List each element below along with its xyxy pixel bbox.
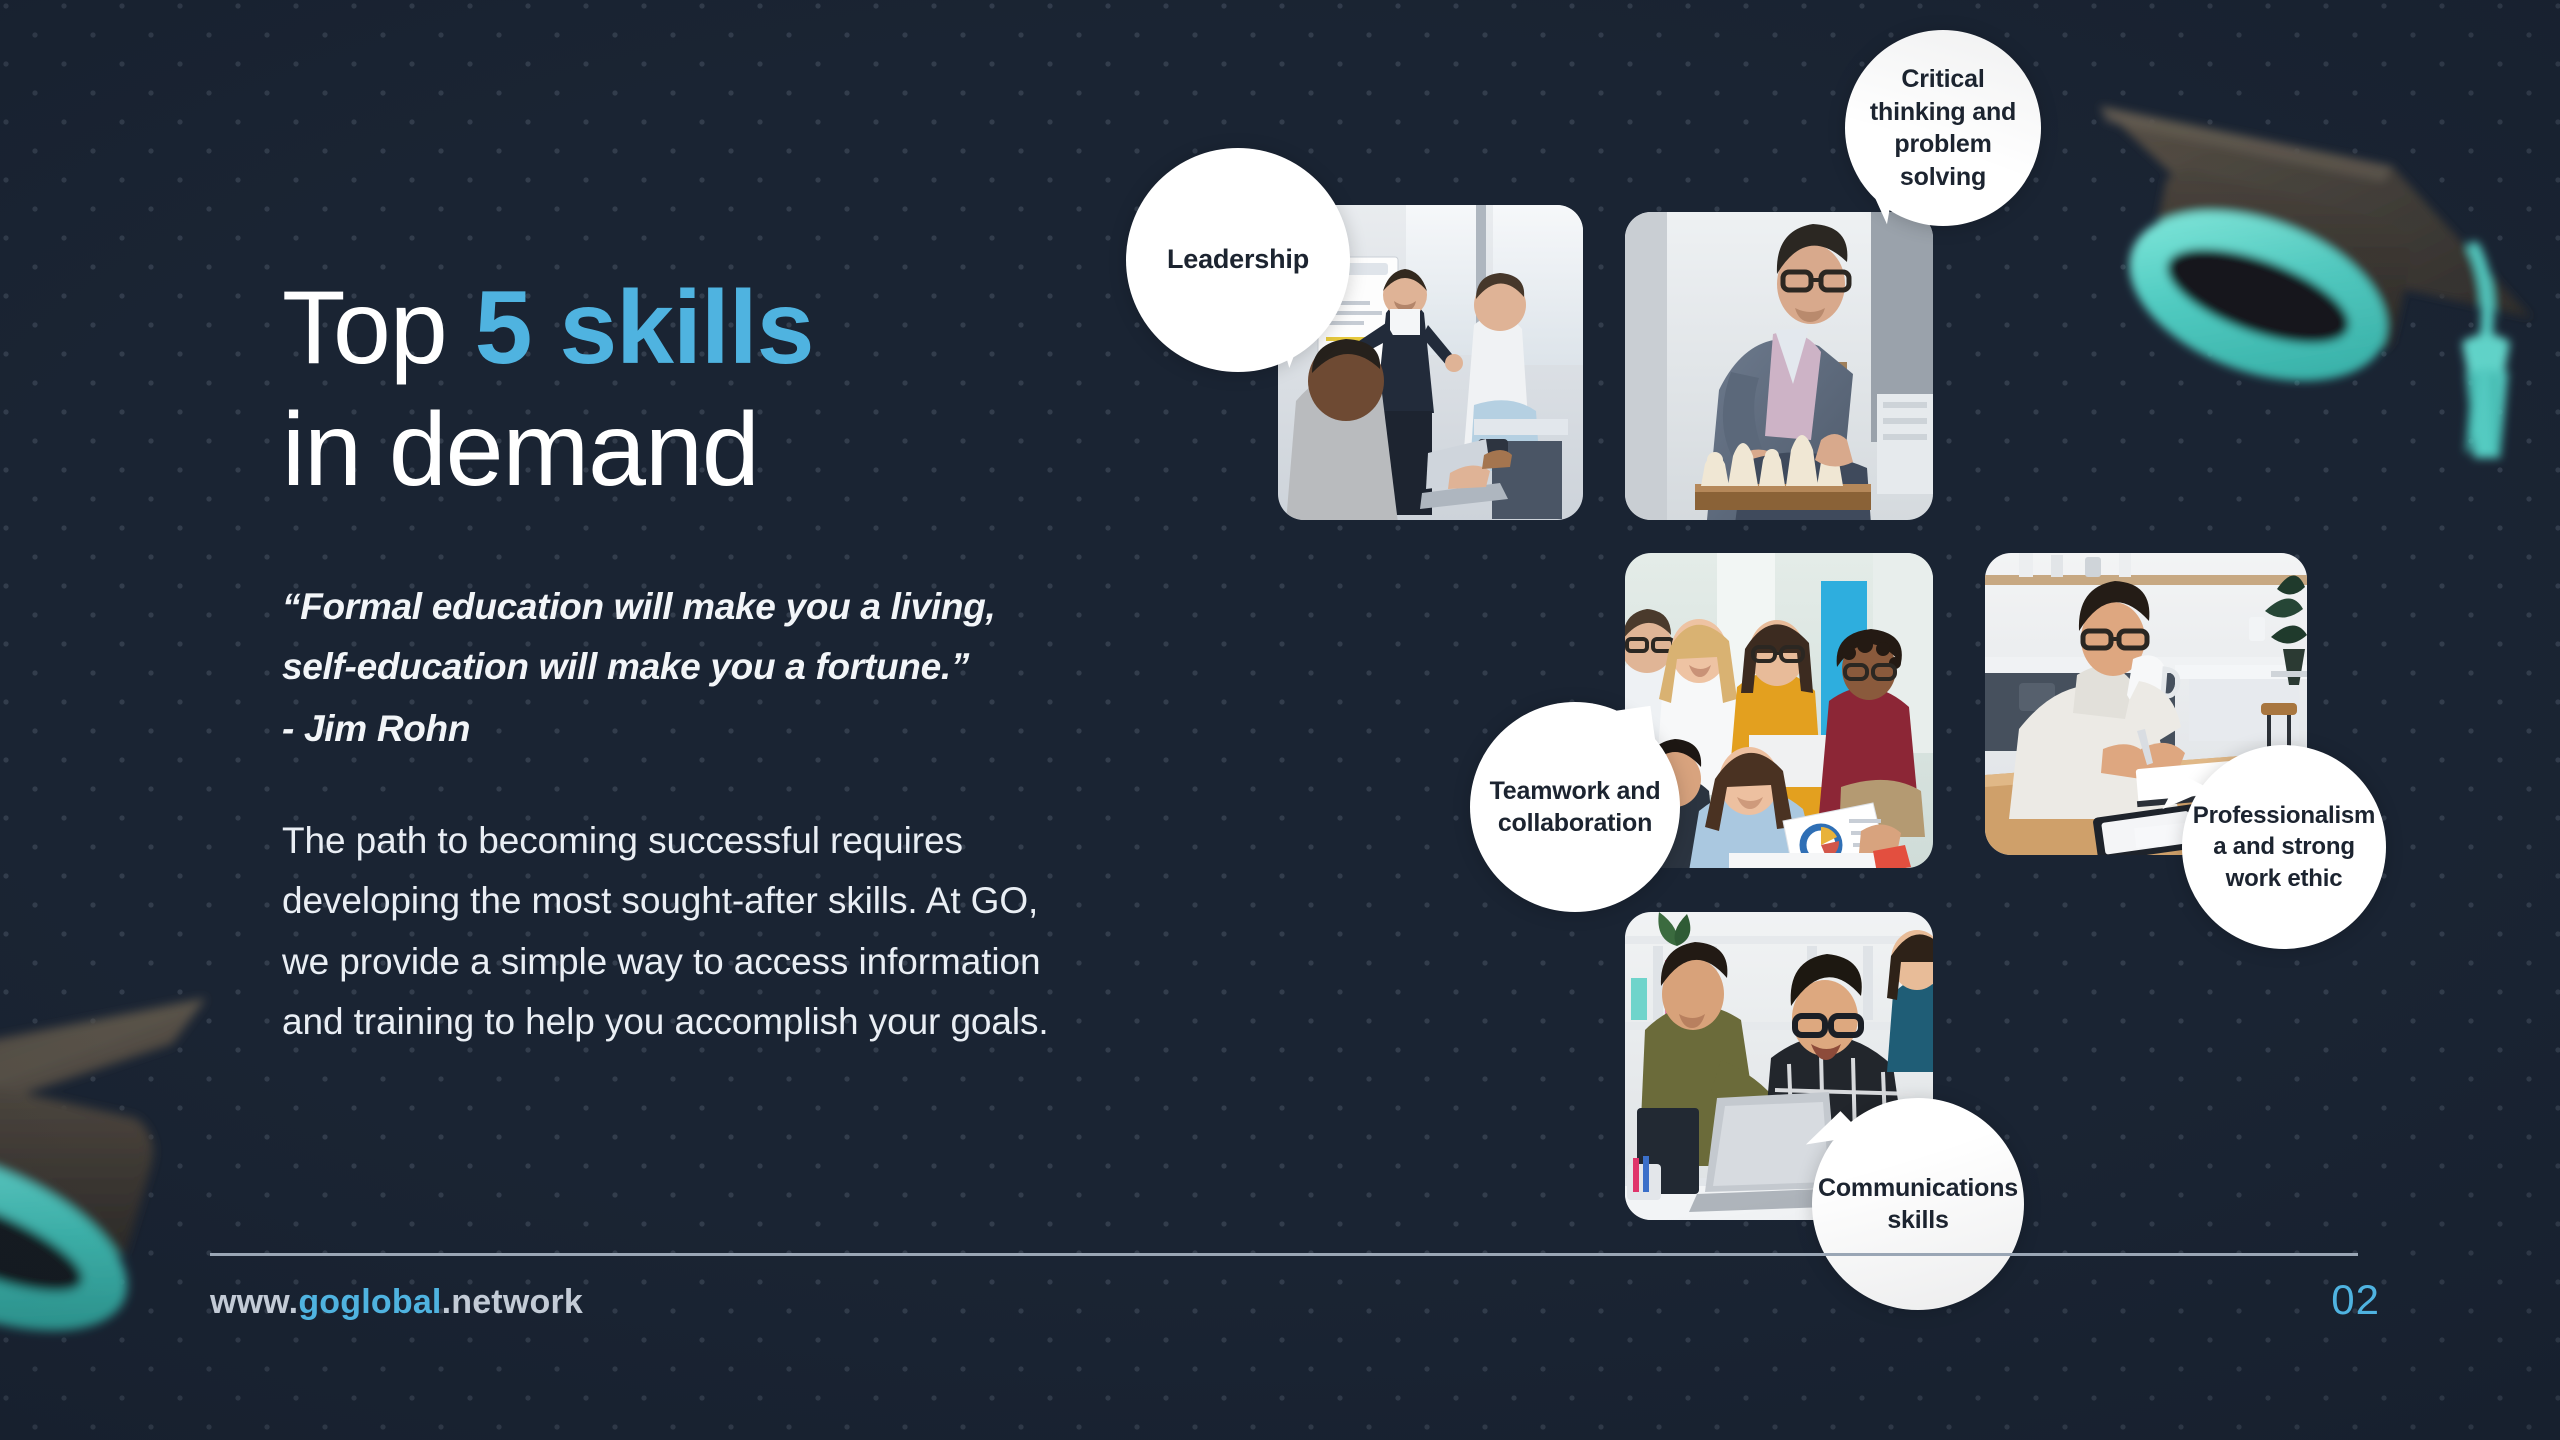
footer-url-prefix: www. <box>210 1283 298 1321</box>
quote-line-1: “Formal education will make you a living… <box>282 577 1102 637</box>
footer-website-url[interactable]: www.goglobal.network <box>210 1283 583 1322</box>
skill-bubble-teamwork-label: Teamwork and collaboration <box>1474 775 1677 840</box>
bubble-tail-teamwork <box>1617 706 1658 760</box>
page-number: 02 <box>2331 1276 2380 1324</box>
quote-line-2: self-education will make you a fortune.” <box>282 637 1102 697</box>
skill-bubble-communications[interactable]: Communications skills <box>1812 1098 2024 1310</box>
slide-canvas: Leadership Critical thinking and problem… <box>0 0 2560 1440</box>
skill-bubble-teamwork[interactable]: Teamwork and collaboration <box>1470 702 1680 912</box>
footer-url-suffix: .network <box>442 1283 583 1321</box>
graduation-cap-icon-top-right <box>2062 70 2560 490</box>
body-paragraph: The path to becoming successful requires… <box>282 811 1082 1052</box>
skill-bubble-leadership-label: Leadership <box>1151 242 1325 277</box>
page-title-accent: 5 skills <box>475 270 814 386</box>
footer-url-brand: goglobal <box>298 1283 441 1321</box>
skill-bubble-professionalism[interactable]: Professionalism a and strong work ethic <box>2182 745 2386 949</box>
quote-block: “Formal education will make you a living… <box>282 577 1102 759</box>
left-content-column: Top 5 skills in demand “Formal education… <box>282 268 1102 1052</box>
skill-bubble-professionalism-label: Professionalism a and strong work ethic <box>2177 800 2391 894</box>
page-title-line2: in demand <box>282 390 1102 512</box>
skill-bubble-critical-thinking[interactable]: Critical thinking and problem solving <box>1845 30 2041 226</box>
skill-bubble-critical-thinking-label: Critical thinking and problem solving <box>1854 63 2032 193</box>
photo-chess <box>1625 212 1933 520</box>
page-title: Top 5 skills in demand <box>282 268 1102 511</box>
page-title-line1-plain: Top <box>282 270 475 386</box>
footer-divider <box>210 1253 2358 1256</box>
skill-bubble-leadership[interactable]: Leadership <box>1126 148 1350 372</box>
bubble-tail-leadership <box>1276 312 1324 368</box>
quote-attribution: - Jim Rohn <box>282 699 1102 759</box>
skill-bubble-communications-label: Communications skills <box>1802 1172 2034 1237</box>
